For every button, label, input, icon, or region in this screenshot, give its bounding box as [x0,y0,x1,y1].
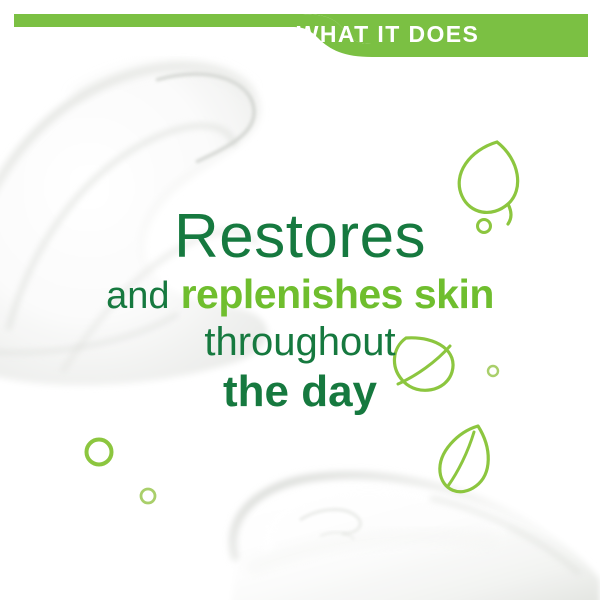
header-banner: WHAT IT DOES [0,0,600,70]
headline-line-2: and replenishes skin [0,274,600,315]
circle-small-left-icon [141,489,155,503]
promo-canvas: WHAT IT DOES Restores and repl [0,0,600,600]
circle-large-left-icon [87,440,112,465]
headline-line-4: the day [0,370,600,414]
leaf-lower-right-icon [440,426,488,492]
cream-blob-bottom-right [230,475,600,600]
headline-line-3: throughout [0,322,600,362]
banner-title-text: WHAT IT DOES [297,21,479,48]
headline-line-2-loud: replenishes skin [181,271,494,317]
headline-block: Restores and replenishes skin throughout… [0,206,600,414]
banner-title: WHAT IT DOES [0,21,588,48]
headline-line-2-soft: and [106,275,169,317]
headline-line-1: Restores [0,206,600,268]
